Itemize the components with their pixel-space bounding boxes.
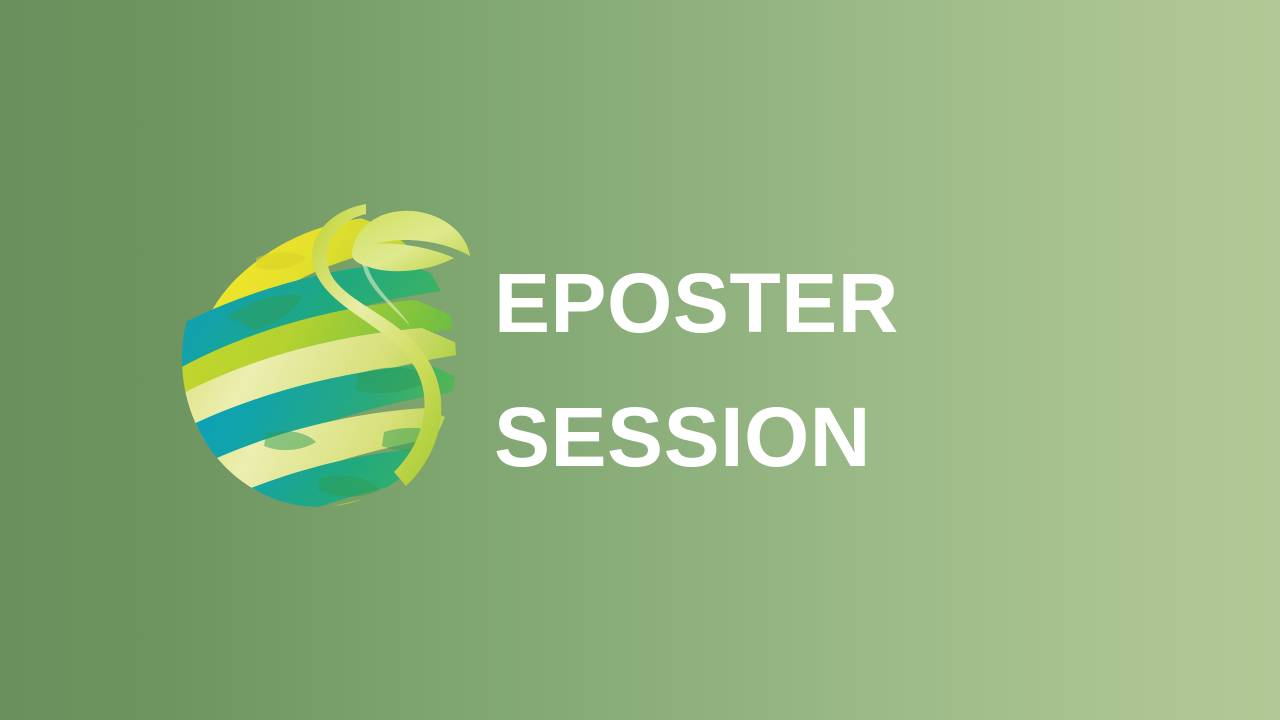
striped-globe-leaf-logo: [170, 196, 480, 521]
eposter-session-title-slide: EPOSTER SESSION: [0, 0, 1280, 720]
wordmark-line-eposter: EPOSTER: [494, 236, 1194, 370]
wordmark-line-session: SESSION: [494, 370, 1194, 504]
wordmark: EPOSTER SESSION: [494, 236, 1194, 504]
leaf-icon: [352, 211, 470, 271]
